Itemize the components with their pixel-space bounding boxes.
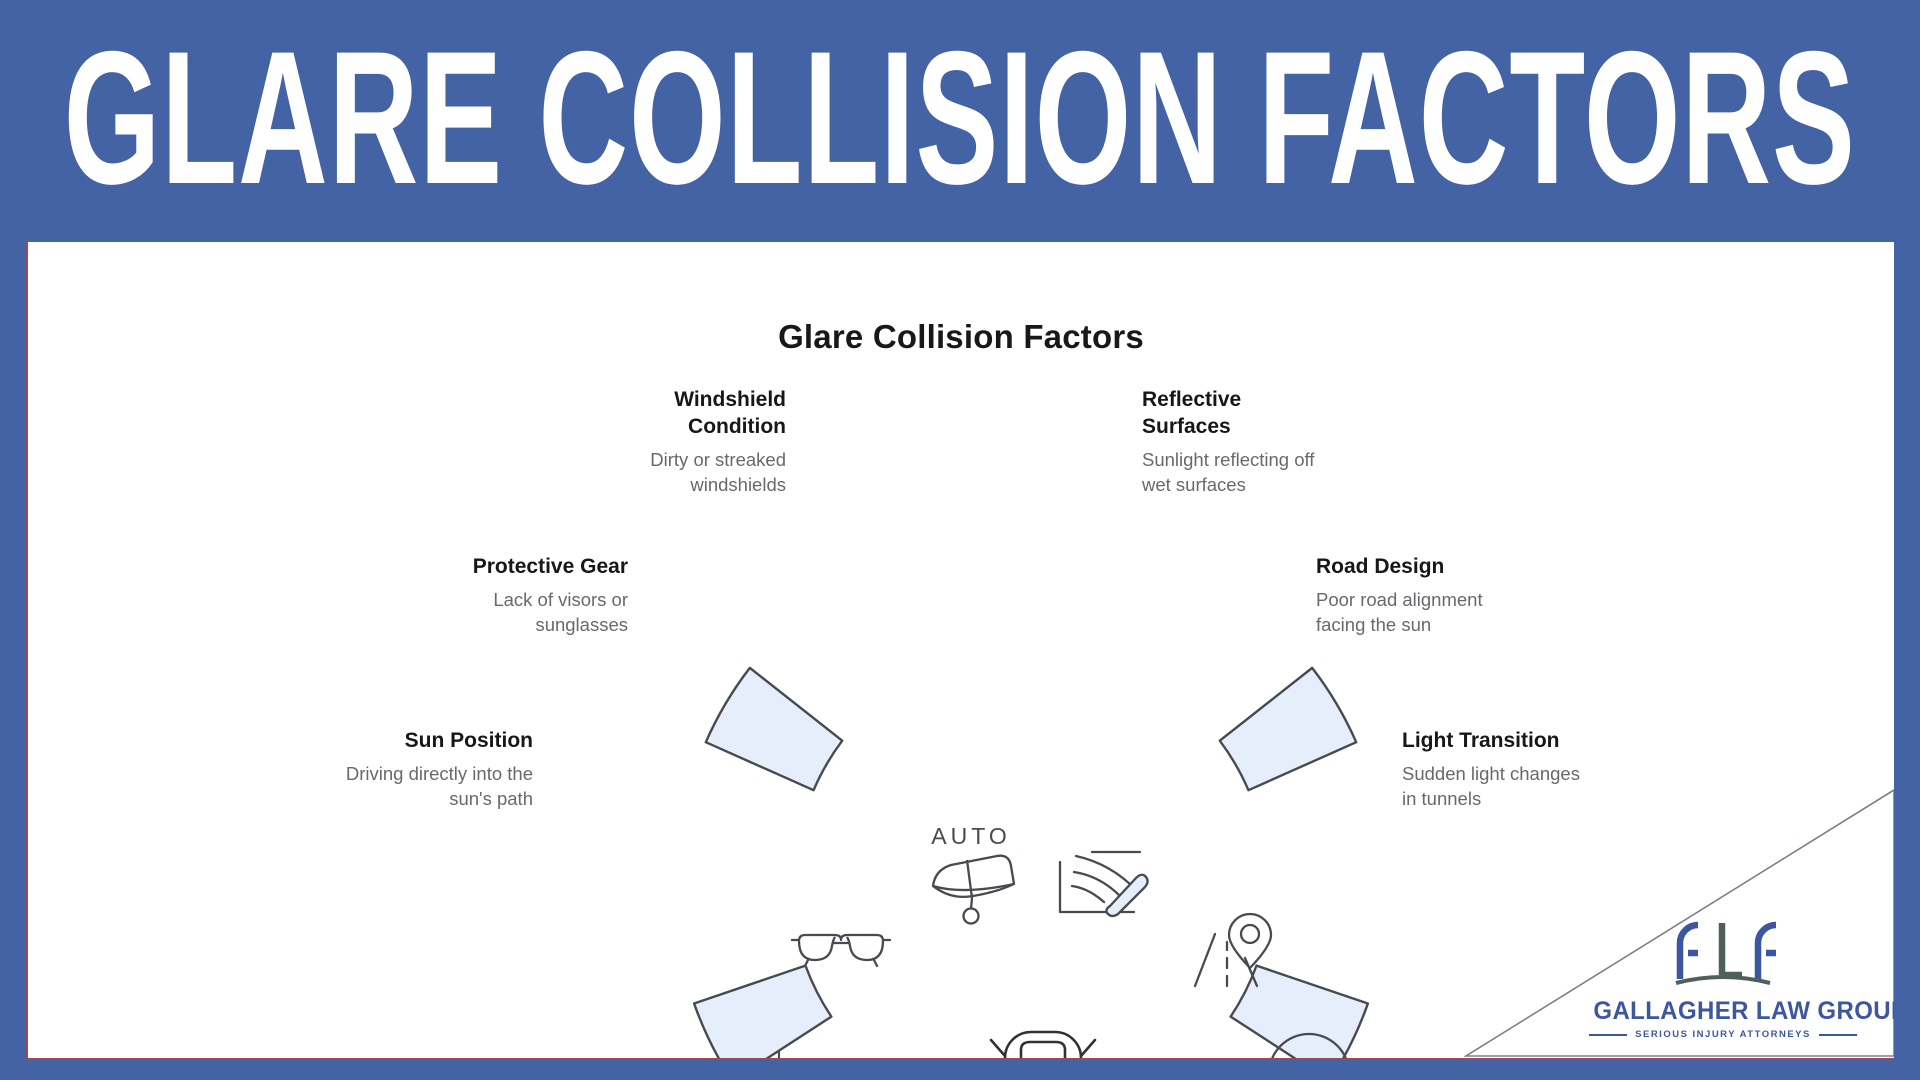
label-title: Reflective Surfaces <box>1142 387 1412 441</box>
label-title-line1: Windshield <box>516 387 786 414</box>
banner: GLARE COLLISION FACTORS <box>0 0 1920 238</box>
auto-wiper-icon: AUTO <box>931 823 1014 924</box>
label-title: Protective Gear <box>358 554 628 581</box>
label-title-line1: Protective Gear <box>358 554 628 581</box>
logo-name: GALLAGHER LAW GROUP <box>1593 997 1852 1026</box>
segment-reflective-surfaces[interactable] <box>1060 664 1356 916</box>
label-desc-line1: Poor road alignment <box>1316 588 1586 613</box>
label-description: Poor road alignment facing the sun <box>1316 588 1586 638</box>
logo-rule-right <box>1819 1034 1857 1036</box>
logo-tagline: SERIOUS INJURY ATTORNEYS <box>1635 1029 1811 1040</box>
label-title-line1: Light Transition <box>1402 728 1672 755</box>
label-title: Light Transition <box>1402 728 1672 755</box>
banner-title: GLARE COLLISION FACTORS <box>64 24 1856 213</box>
label-title-line1: Road Design <box>1316 554 1586 581</box>
label-protective-gear: Protective Gear Lack of visors or sungla… <box>358 554 628 637</box>
logo: GALLAGHER LAW GROUP SERIOUS INJURY ATTOR… <box>1588 909 1858 1040</box>
label-title-line2: Surfaces <box>1142 414 1412 441</box>
label-title: Road Design <box>1316 554 1586 581</box>
label-desc-line2: facing the sun <box>1316 613 1586 638</box>
label-title: Windshield Condition <box>516 387 786 441</box>
label-windshield-condition: Windshield Condition Dirty or streaked w… <box>516 387 786 497</box>
logo-rule-left <box>1589 1034 1627 1036</box>
label-road-design: Road Design Poor road alignment facing t… <box>1316 554 1586 637</box>
label-title-line2: Condition <box>516 414 786 441</box>
label-desc-line2: wet surfaces <box>1142 473 1412 498</box>
label-description: Lack of visors or sunglasses <box>358 588 628 638</box>
label-desc-line1: Dirty or streaked <box>516 448 786 473</box>
logo-tagline-row: SERIOUS INJURY ATTORNEYS <box>1588 1029 1858 1040</box>
label-sun-position: Sun Position Driving directly into the s… <box>263 728 533 811</box>
label-title: Sun Position <box>263 728 533 755</box>
wiper-auto-label: AUTO <box>931 823 1010 849</box>
sunglasses-icon <box>792 935 890 966</box>
label-description: Sunlight reflecting off wet surfaces <box>1142 448 1412 498</box>
label-description: Driving directly into the sun's path <box>263 762 533 812</box>
label-desc-line1: Driving directly into the <box>263 762 533 787</box>
label-desc-line1: Sunlight reflecting off <box>1142 448 1412 473</box>
label-desc-line2: sunglasses <box>358 613 628 638</box>
center-car-icon <box>911 1032 1095 1058</box>
segment-road-design[interactable] <box>1195 914 1376 1058</box>
label-title-line1: Sun Position <box>263 728 533 755</box>
segment-protective-gear[interactable] <box>686 935 890 1058</box>
label-desc-line1: Lack of visors or <box>358 588 628 613</box>
label-desc-line2: sun's path <box>263 787 533 812</box>
segment-sun-position[interactable] <box>735 1052 1031 1058</box>
reflective-glare-icon <box>1060 852 1148 916</box>
label-desc-line2: windshields <box>516 473 786 498</box>
slide-root: GLARE COLLISION FACTORS Glare Collision … <box>0 0 1920 1080</box>
label-description: Dirty or streaked windshields <box>516 448 786 498</box>
label-reflective-surfaces: Reflective Surfaces Sunlight reflecting … <box>1142 387 1412 497</box>
segment-windshield-condition[interactable]: AUTO <box>706 664 1014 924</box>
label-desc-line1: Sudden light changes <box>1402 762 1672 787</box>
content-card: Glare Collision Factors <box>28 242 1894 1058</box>
glg-monogram-icon <box>1658 909 1788 995</box>
label-title-line1: Reflective <box>1142 387 1412 414</box>
